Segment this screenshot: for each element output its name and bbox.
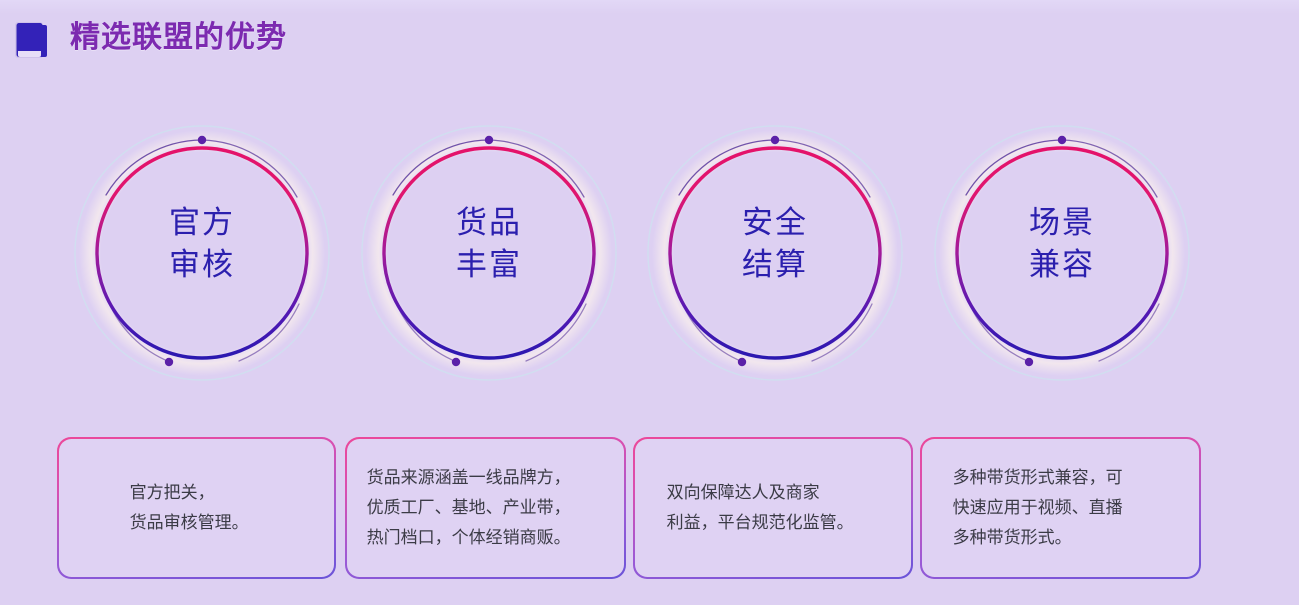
circle-item-abundant-goods[interactable]: 货品 丰富 (354, 100, 624, 410)
card-line: 货品审核管理。 (130, 508, 319, 538)
slide-header: 精选联盟的优势 (0, 0, 1299, 78)
card-body: 双向保障达人及商家 利益，平台规范化监管。 (635, 439, 912, 578)
circle-item-scene-compatible[interactable]: 场景 兼容 (927, 100, 1197, 410)
page-title: 精选联盟的优势 (70, 16, 287, 60)
circle-item-secure-settlement[interactable]: 安全 结算 (640, 100, 910, 410)
card-line: 多种带货形式兼容，可 (953, 463, 1184, 493)
circle-row: 官方 审核 (0, 100, 1299, 410)
card-official-review[interactable]: 官方把关， 货品审核管理。 (57, 437, 336, 579)
card-line: 货品来源涵盖一线品牌方， (367, 463, 609, 493)
card-body: 多种带货形式兼容，可 快速应用于视频、直播 多种带货形式。 (922, 439, 1200, 578)
circle-graphic (640, 100, 910, 410)
slide-canvas: 精选联盟的优势 (0, 0, 1299, 605)
card-line: 优质工厂、基地、产业带， (367, 493, 609, 523)
card-line: 多种带货形式。 (953, 523, 1184, 553)
card-line: 利益，平台规范化监管。 (667, 508, 896, 538)
card-abundant-goods[interactable]: 货品来源涵盖一线品牌方， 优质工厂、基地、产业带， 热门档口，个体经销商贩。 (345, 437, 626, 579)
card-line: 快速应用于视频、直播 (953, 493, 1184, 523)
card-secure-settlement[interactable]: 双向保障达人及商家 利益，平台规范化监管。 (633, 437, 913, 579)
circle-item-official-review[interactable]: 官方 审核 (67, 100, 337, 410)
card-row: 官方把关， 货品审核管理。 货品来源涵盖一线品牌方， 优质工厂、基地、产业带， … (0, 437, 1299, 582)
card-line: 双向保障达人及商家 (667, 478, 896, 508)
card-body: 货品来源涵盖一线品牌方， 优质工厂、基地、产业带， 热门档口，个体经销商贩。 (347, 439, 625, 578)
card-line: 热门档口，个体经销商贩。 (367, 523, 609, 553)
circle-graphic (354, 100, 624, 410)
card-line: 官方把关， (130, 478, 319, 508)
circle-graphic (67, 100, 337, 410)
book-icon (8, 16, 56, 64)
card-scene-compatible[interactable]: 多种带货形式兼容，可 快速应用于视频、直播 多种带货形式。 (920, 437, 1201, 579)
circle-graphic (927, 100, 1197, 410)
card-body: 官方把关， 货品审核管理。 (59, 439, 335, 578)
